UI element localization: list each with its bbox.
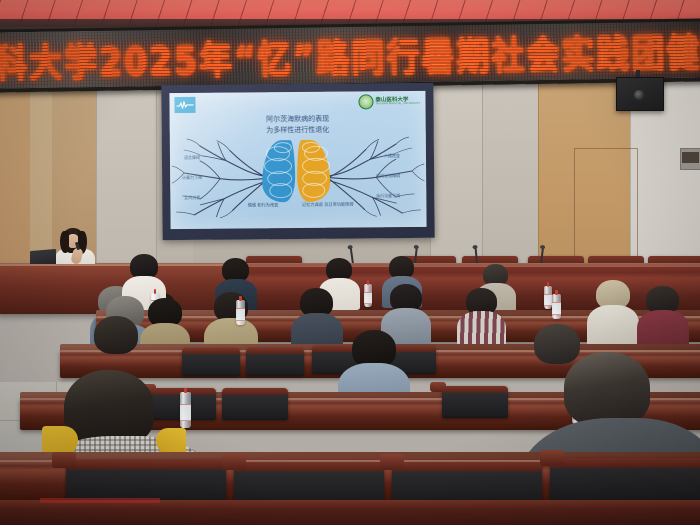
projection-screen: 泰山医科大学TAISHAN MEDICAL UNIVERSITY 阿尔茨海默病的… (169, 91, 426, 229)
front-chair-arm (52, 452, 76, 468)
water-bottle[interactable] (180, 392, 191, 428)
audience-chair[interactable] (222, 388, 288, 420)
front-chair-arm (540, 450, 564, 466)
audience-chair-arm (430, 382, 446, 392)
red-accent-strip (40, 498, 160, 503)
front-chair-arm (222, 454, 246, 470)
front-desk-lower (0, 500, 700, 525)
front-chair[interactable] (550, 458, 700, 504)
water-bottle[interactable] (544, 286, 552, 309)
screen-glare (169, 91, 426, 229)
front-chair-arm (380, 454, 404, 470)
speaker-cone-icon (634, 90, 644, 100)
presenter-hair-left (60, 231, 69, 253)
audience-chair[interactable] (246, 348, 304, 376)
led-banner: 科大学2025年“忆”路同行暑期社会实践团健康科普宣讲 (0, 18, 700, 92)
water-bottle[interactable] (552, 294, 561, 319)
wall-control-box-screen (682, 152, 699, 163)
audience-chair[interactable] (442, 386, 508, 418)
water-bottle[interactable] (364, 284, 372, 307)
water-bottle[interactable] (236, 300, 245, 325)
led-banner-text: 科大学2025年“忆”路同行暑期社会实践团健康科普宣讲 (0, 18, 700, 88)
lecture-hall-photo: 科大学2025年“忆”路同行暑期社会实践团健康科普宣讲 泰山医科大学TAISHA… (0, 0, 700, 525)
audience-chair[interactable] (182, 348, 240, 376)
